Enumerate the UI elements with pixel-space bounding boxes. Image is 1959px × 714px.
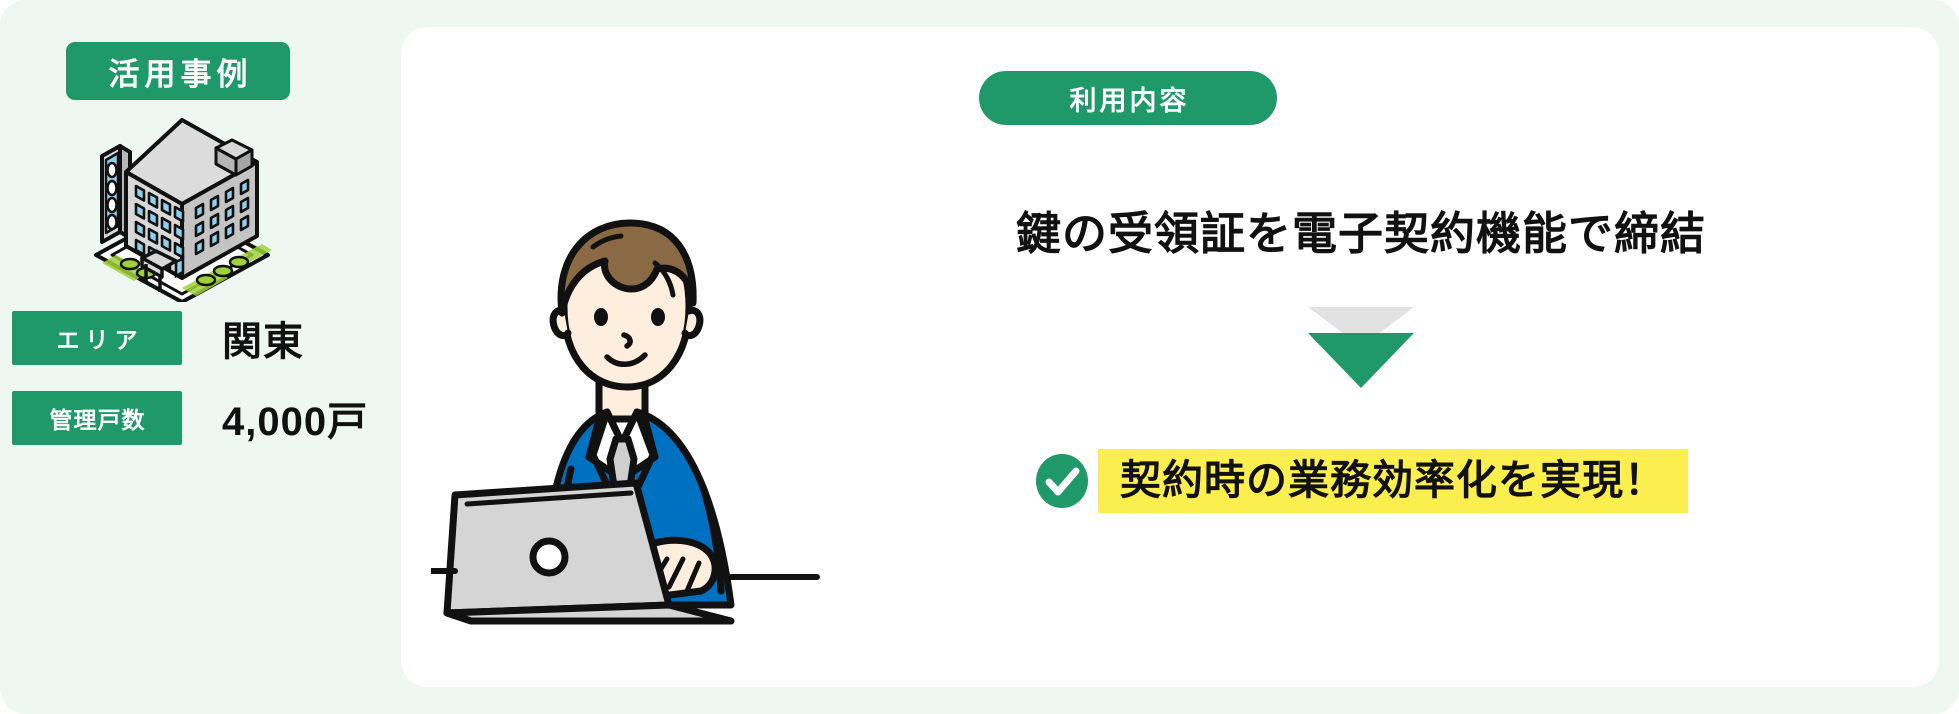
businessman-with-laptop-illustration (431, 207, 821, 627)
meta-chip-units: 管理戸数 (12, 391, 182, 445)
double-chevron-down-icon (1101, 307, 1621, 427)
meta-row-area: エリア 関東 (12, 311, 304, 365)
usecase-badge: 活用事例 (66, 42, 290, 100)
meta-chip-area: エリア (12, 311, 182, 365)
chevron-down-icon-bottom (1308, 333, 1414, 388)
meta-row-units: 管理戸数 4,000戸 (12, 391, 368, 445)
usage-content-card: 利用内容 鍵の受領証を電子契約機能で締結 契約時の業務効率化を実現！ (401, 27, 1939, 687)
result-text: 契約時の業務効率化を実現！ (1098, 449, 1688, 513)
left-summary-column: 活用事例 (0, 0, 400, 714)
usecase-card-stage: 活用事例 (0, 0, 1959, 714)
usage-pill-label: 利用内容 (979, 71, 1277, 125)
check-circle-icon (1034, 453, 1090, 509)
usage-headline: 鍵の受領証を電子契約機能で締結 (821, 197, 1901, 262)
office-building-isometric-icon (86, 112, 276, 302)
result-row: 契約時の業務効率化を実現！ (801, 449, 1921, 513)
meta-value-area: 関東 (222, 309, 304, 367)
meta-value-units: 4,000戸 (222, 389, 368, 447)
